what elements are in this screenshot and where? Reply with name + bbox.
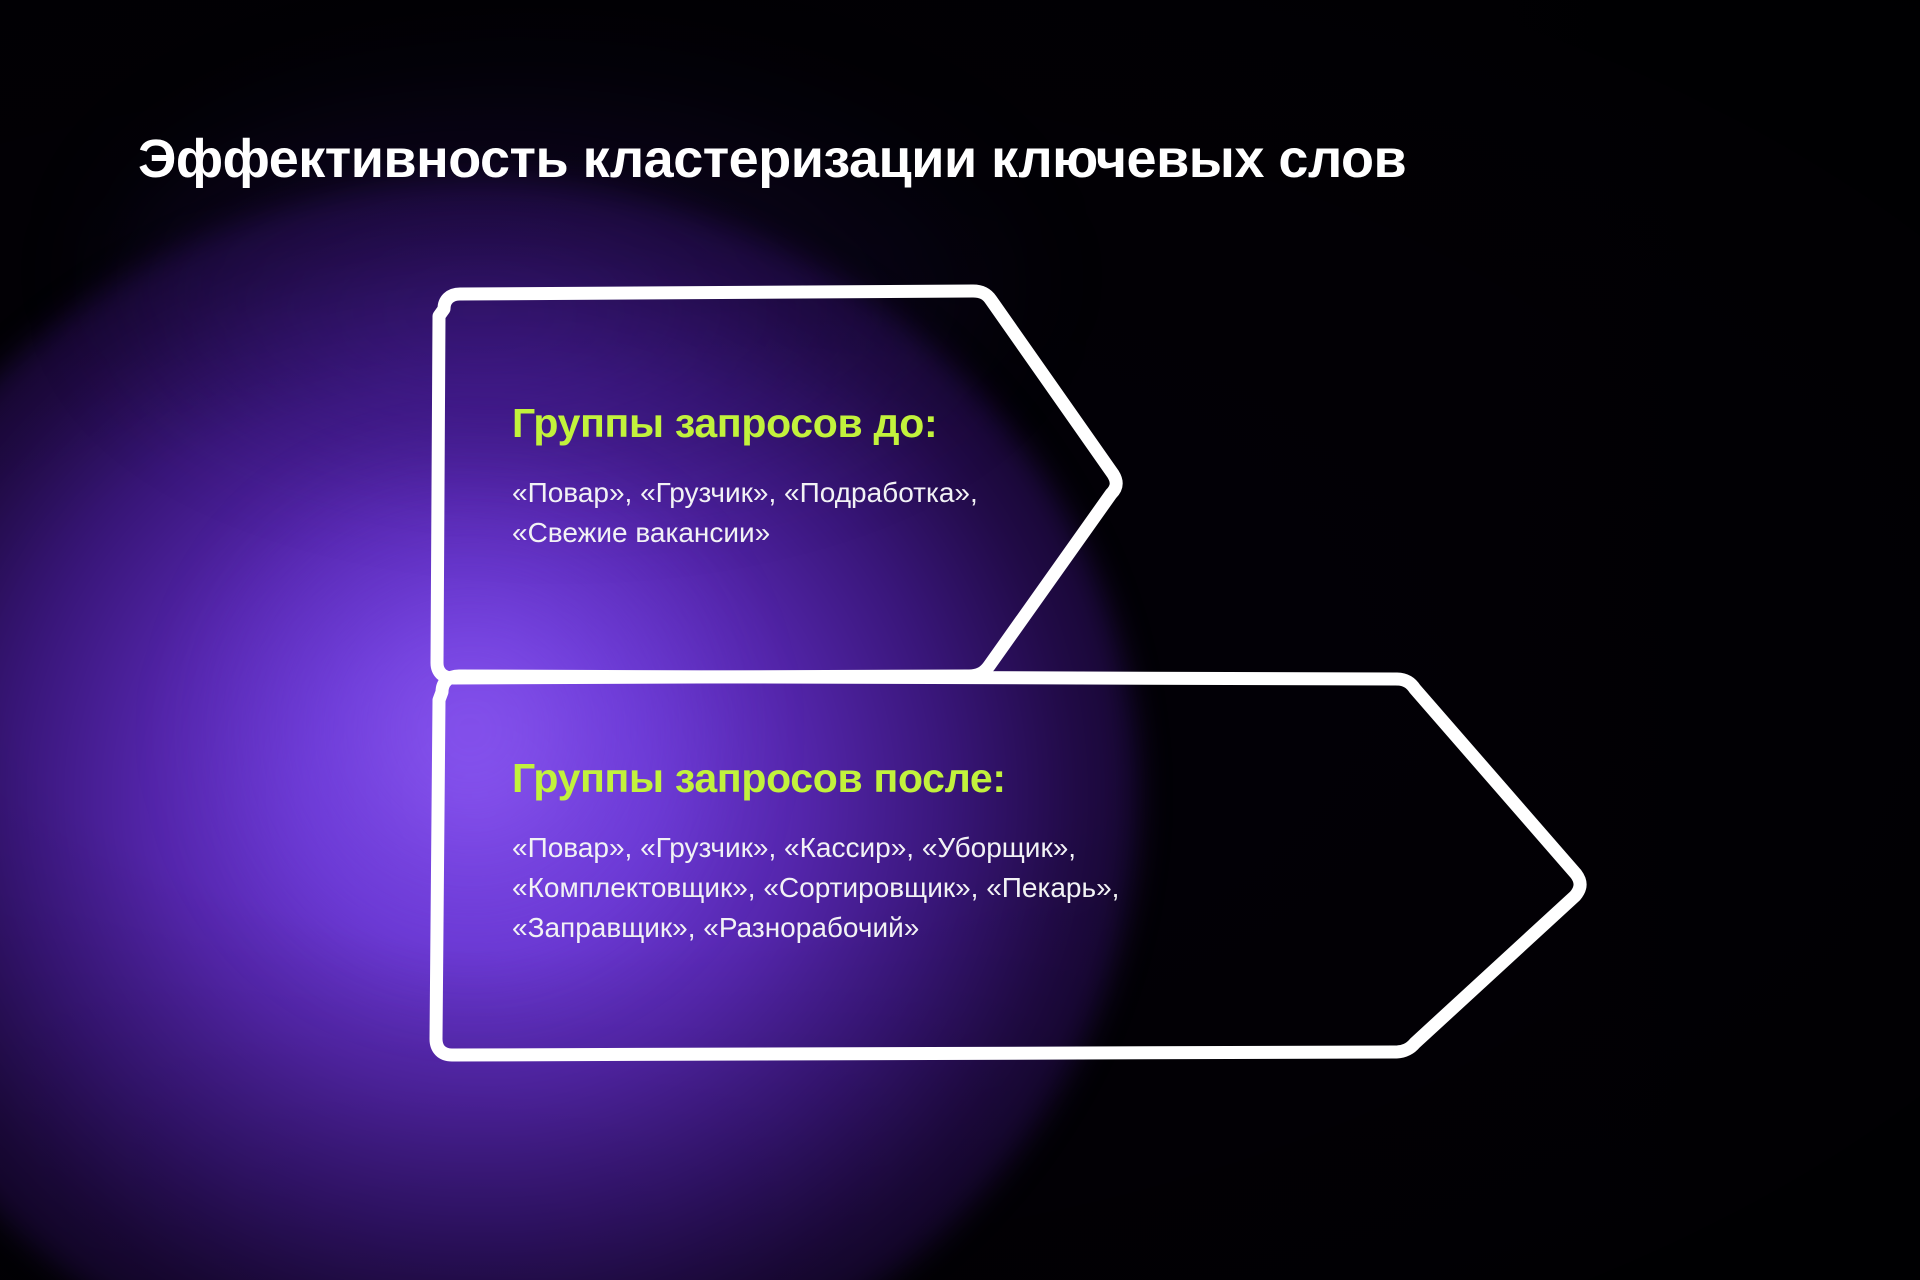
card-before-line-2: «Свежие вакансии» bbox=[512, 513, 978, 553]
card-before-body: «Повар», «Грузчик», «Подработка», «Свежи… bbox=[512, 473, 978, 553]
card-before: Группы запросов до: «Повар», «Грузчик», … bbox=[512, 400, 978, 553]
card-before-line-1: «Повар», «Грузчик», «Подработка», bbox=[512, 473, 978, 513]
card-after-line-3: «Заправщик», «Разнорабочий» bbox=[512, 908, 1119, 948]
card-after: Группы запросов после: «Повар», «Грузчик… bbox=[512, 755, 1119, 947]
card-after-line-2: «Комплектовщик», «Сортировщик», «Пекарь»… bbox=[512, 868, 1119, 908]
card-before-heading: Группы запросов до: bbox=[512, 400, 978, 447]
cards-layer: Группы запросов до: «Повар», «Грузчик», … bbox=[0, 0, 1920, 1280]
slide-canvas: Эффективность кластеризации ключевых сло… bbox=[0, 0, 1920, 1280]
slide-title: Эффективность кластеризации ключевых сло… bbox=[138, 130, 1838, 188]
card-after-body: «Повар», «Грузчик», «Кассир», «Уборщик»,… bbox=[512, 828, 1119, 947]
card-after-heading: Группы запросов после: bbox=[512, 755, 1119, 802]
card-after-line-1: «Повар», «Грузчик», «Кассир», «Уборщик», bbox=[512, 828, 1119, 868]
